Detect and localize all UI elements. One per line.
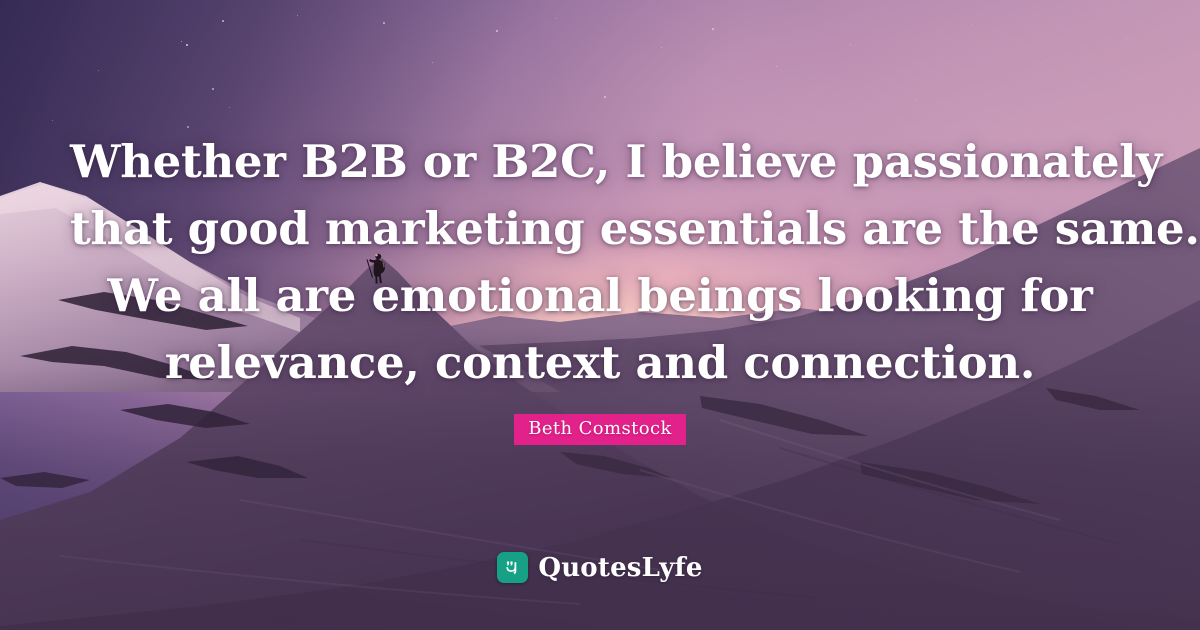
quote-line-2: that good marketing essentials are the s…	[70, 195, 1130, 262]
brand-name: QuotesLyfe	[538, 553, 702, 583]
brand-logo[interactable]: QuotesLyfe	[0, 552, 1200, 583]
quote-smiley-icon	[497, 552, 528, 583]
quote-text: Whether B2B or B2C, I believe passionate…	[0, 128, 1200, 396]
quote-line-4: relevance, context and connection.	[70, 329, 1130, 396]
author-name-badge[interactable]: Beth Comstock	[514, 414, 686, 445]
quote-line-3: We all are emotional beings looking for	[70, 262, 1130, 329]
author-badge-container: Beth Comstock	[0, 414, 1200, 445]
quote-line-1: Whether B2B or B2C, I believe passionate…	[70, 128, 1130, 195]
quote-card: Whether B2B or B2C, I believe passionate…	[0, 0, 1200, 630]
